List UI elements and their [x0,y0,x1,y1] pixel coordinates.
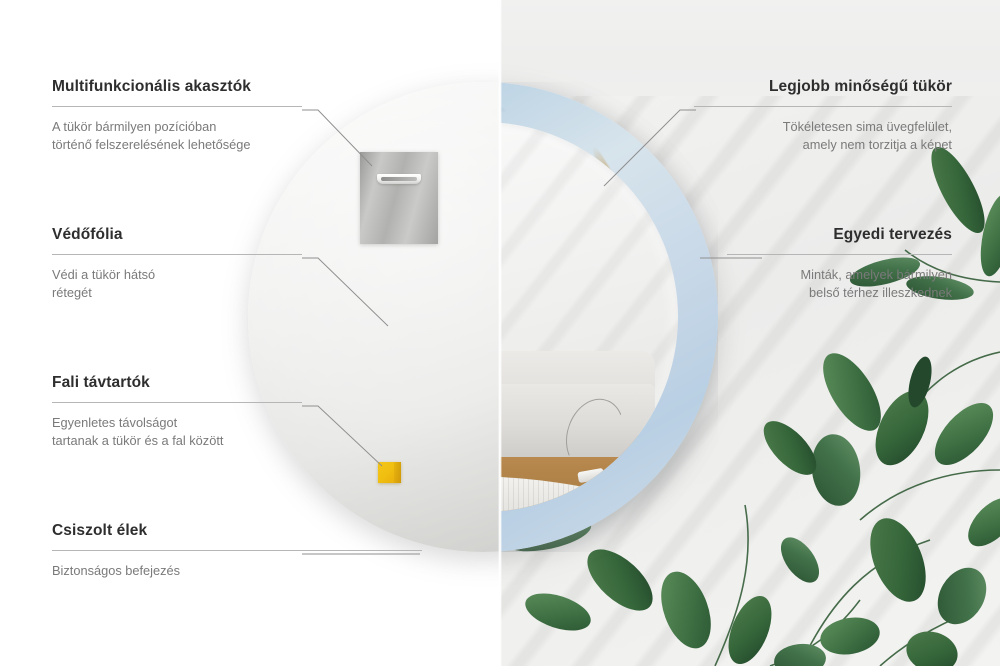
reflected-living-room-scene [500,329,678,512]
callout-rule [52,254,302,255]
mirror-glass-surface [500,122,678,512]
callout-title: Fali távtartók [52,374,302,393]
callout-title: Csiszolt élek [52,522,422,541]
callout-title: Legjobb minőségű tükör [694,78,952,97]
callout-rule [52,402,302,403]
callout-body: Biztonságos befejezés [52,562,422,581]
callout-title: Védőfólia [52,226,302,245]
mirror-hanger-plate [360,152,438,244]
callout-fali-tavtartok: Fali távtartók Egyenletes távolságot tar… [52,374,302,451]
callout-multifunkcionalis-akasztok: Multifunkcionális akasztók A tükör bármi… [52,78,302,155]
callout-body: Védi a tükör hátsó rétegét [52,266,302,303]
wall-spacer-icon [378,462,401,483]
callout-csiszolt-elek: Csiszolt élek Biztonságos befejezés [52,522,422,580]
round-mirror-product [248,82,718,552]
callout-body: Minták, amelyek bármilyen belső térhez i… [727,266,952,303]
callout-legjobb-minosegu-tukor: Legjobb minőségű tükör Tökéletesen sima … [694,78,952,155]
callout-body: Tökéletesen sima üvegfelület, amely nem … [694,118,952,155]
callout-rule [694,106,952,107]
mirror-front-face [500,82,718,552]
callout-body: Egyenletes távolságot tartanak a tükör é… [52,414,302,451]
panel-seam-divider [498,0,502,666]
infographic-canvas: Multifunkcionális akasztók A tükör bármi… [0,0,1000,666]
callout-rule [52,106,302,107]
hanger-slot-icon [377,174,421,184]
callout-rule [52,550,422,551]
callout-egyedi-tervezes: Egyedi tervezés Minták, amelyek bármilye… [727,226,952,303]
callout-title: Multifunkcionális akasztók [52,78,302,97]
mirror-front-clip [500,82,718,552]
callout-title: Egyedi tervezés [727,226,952,245]
callout-body: A tükör bármilyen pozícióban történő fel… [52,118,302,155]
callout-vedofolia: Védőfólia Védi a tükör hátsó rétegét [52,226,302,303]
callout-rule [727,254,952,255]
